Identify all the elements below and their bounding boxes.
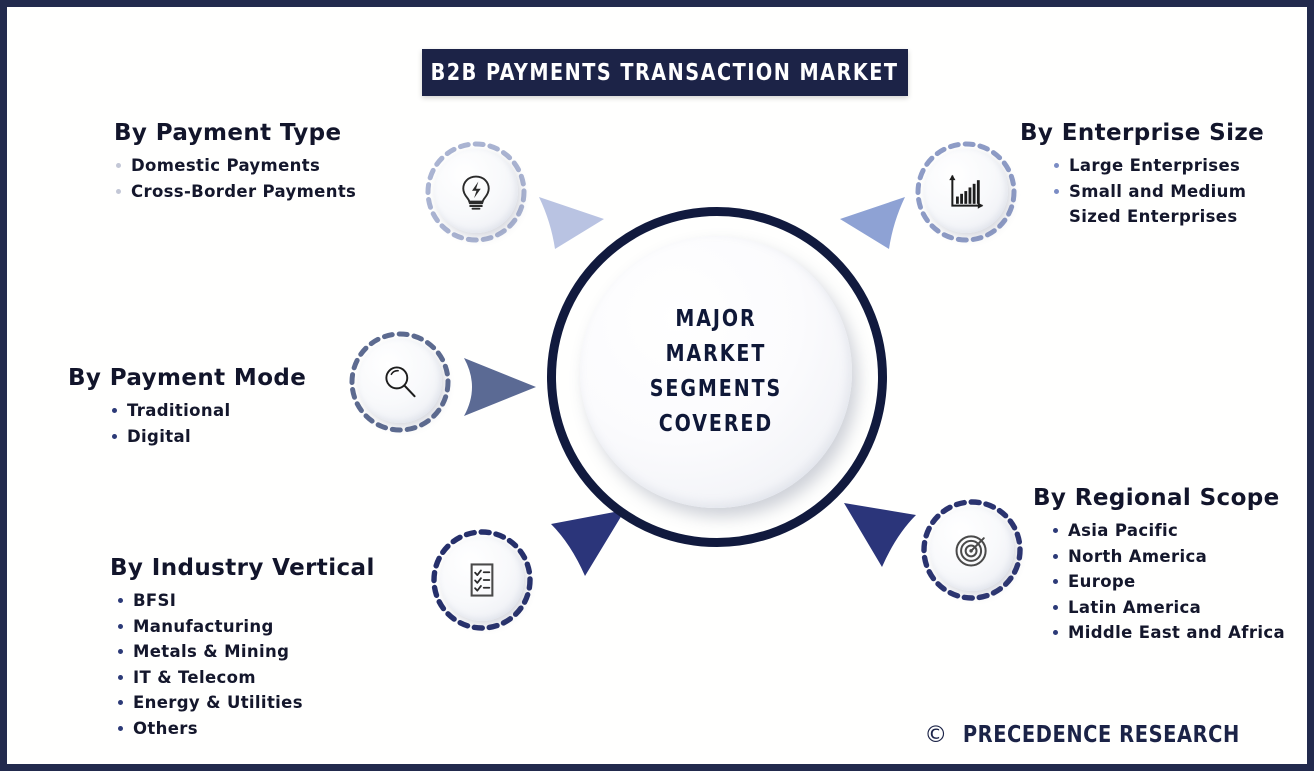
list-item: Latin America bbox=[1051, 595, 1285, 621]
hub-line-2: MARKET bbox=[650, 337, 782, 372]
list-item: IT & Telecom bbox=[116, 665, 375, 691]
badge-industry-vertical[interactable] bbox=[431, 529, 533, 631]
center-hub-disc: MAJOR MARKET SEGMENTS COVERED bbox=[580, 236, 852, 508]
footer-logo: © PRECEDENCE RESEARCH bbox=[924, 722, 1249, 748]
target-icon bbox=[950, 528, 994, 572]
center-hub-label: MAJOR MARKET SEGMENTS COVERED bbox=[650, 302, 782, 442]
list-item: BFSI bbox=[116, 588, 375, 614]
segment-payment-mode: By Payment Mode Traditional Digital bbox=[68, 365, 306, 449]
hub-line-4: COVERED bbox=[650, 407, 782, 442]
segment-heading: By Enterprise Size bbox=[1020, 120, 1269, 146]
list-item: Manufacturing bbox=[116, 614, 375, 640]
list-item: Small and Medium Sized Enterprises bbox=[1052, 179, 1269, 230]
list-item: Others bbox=[116, 716, 375, 742]
arrow-payment-mode bbox=[460, 355, 540, 419]
page-title: B2B PAYMENTS TRANSACTION MARKET bbox=[431, 60, 899, 86]
list-item: North America bbox=[1051, 544, 1285, 570]
hub-line-1: MAJOR bbox=[650, 302, 782, 337]
segment-regional-scope: By Regional Scope Asia Pacific North Ame… bbox=[1033, 485, 1285, 646]
segment-heading: By Regional Scope bbox=[1033, 485, 1285, 511]
lightbulb-icon bbox=[454, 170, 498, 214]
segment-list: Domestic Payments Cross-Border Payments bbox=[114, 153, 356, 204]
segment-list: Asia Pacific North America Europe Latin … bbox=[1033, 518, 1285, 646]
badge-payment-type[interactable] bbox=[425, 141, 527, 243]
segment-payment-type: By Payment Type Domestic Payments Cross-… bbox=[114, 120, 356, 204]
segment-list: Large Enterprises Small and Medium Sized… bbox=[1020, 153, 1269, 230]
segment-industry-vertical: By Industry Vertical BFSI Manufacturing … bbox=[110, 555, 375, 741]
list-item: Asia Pacific bbox=[1051, 518, 1285, 544]
segment-heading: By Payment Mode bbox=[68, 365, 306, 391]
list-item: Domestic Payments bbox=[114, 153, 356, 179]
segment-list: BFSI Manufacturing Metals & Mining IT & … bbox=[110, 588, 375, 741]
segment-heading: By Payment Type bbox=[114, 120, 356, 146]
badge-enterprise-size[interactable] bbox=[915, 141, 1017, 243]
list-item: Traditional bbox=[110, 398, 306, 424]
hub-line-3: SEGMENTS bbox=[650, 372, 782, 407]
magnifier-icon bbox=[378, 360, 422, 404]
list-item: Energy & Utilities bbox=[116, 690, 375, 716]
segment-heading: By Industry Vertical bbox=[110, 555, 375, 581]
list-item: Metals & Mining bbox=[116, 639, 375, 665]
segment-enterprise-size: By Enterprise Size Large Enterprises Sma… bbox=[1020, 120, 1269, 230]
list-item: Large Enterprises bbox=[1052, 153, 1269, 179]
badge-payment-mode[interactable] bbox=[349, 331, 451, 433]
copyright-icon: © bbox=[924, 724, 947, 747]
brand-name: PRECEDENCE RESEARCH bbox=[963, 722, 1240, 748]
center-hub: MAJOR MARKET SEGMENTS COVERED bbox=[547, 207, 887, 547]
infographic-surface: B2B PAYMENTS TRANSACTION MARKET MAJOR MA… bbox=[7, 7, 1307, 764]
segment-list: Traditional Digital bbox=[68, 398, 306, 449]
list-item: Europe bbox=[1051, 569, 1285, 595]
list-item: Cross-Border Payments bbox=[114, 179, 356, 205]
page-title-banner: B2B PAYMENTS TRANSACTION MARKET bbox=[422, 49, 908, 96]
list-item: Digital bbox=[110, 424, 306, 450]
badge-regional-scope[interactable] bbox=[921, 499, 1023, 601]
infographic-canvas: B2B PAYMENTS TRANSACTION MARKET MAJOR MA… bbox=[0, 0, 1314, 771]
list-item: Middle East and Africa bbox=[1051, 620, 1285, 646]
bar-chart-icon bbox=[944, 170, 988, 214]
checklist-icon bbox=[460, 558, 504, 602]
